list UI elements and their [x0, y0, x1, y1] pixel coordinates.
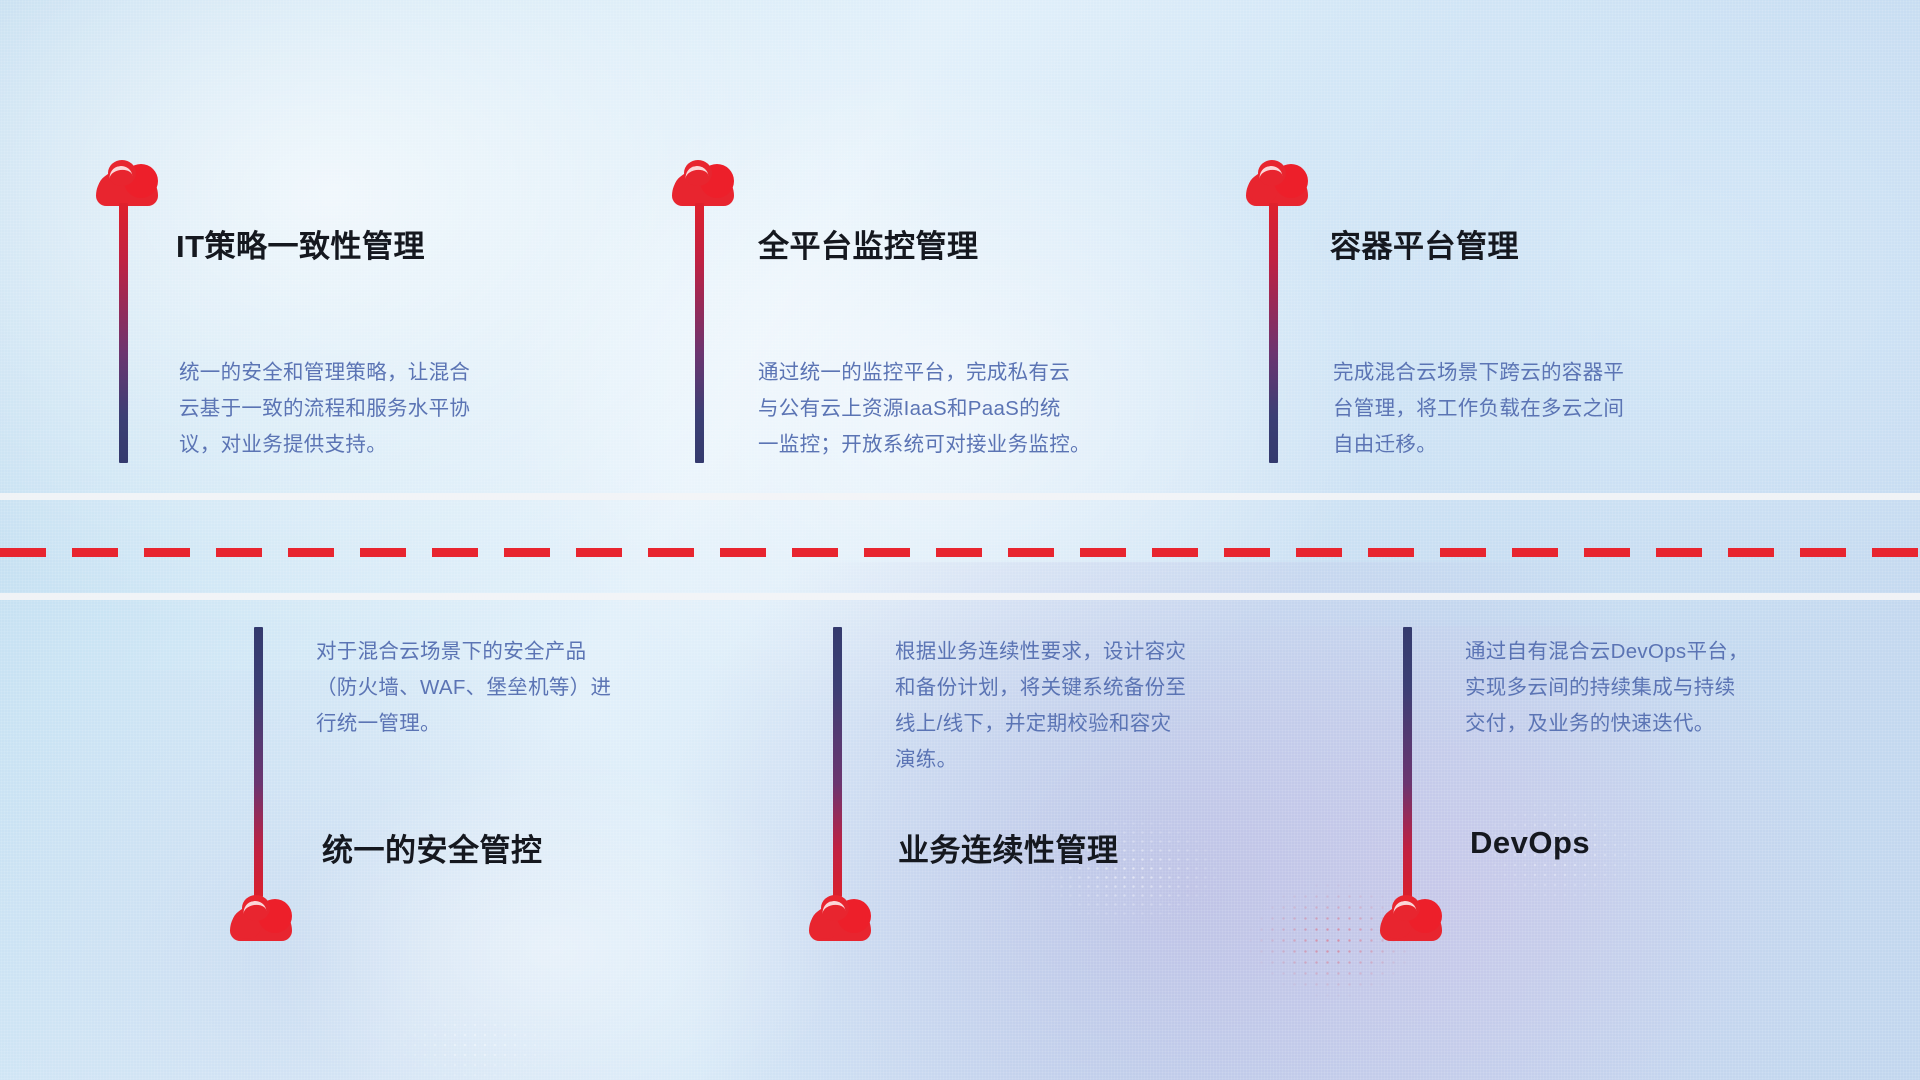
bottom-column-1-description: 对于混合云场景下的安全产品 （防火墙、WAF、堡垒机等）进 行统一管理。 [316, 634, 736, 742]
cloud-icon [230, 895, 292, 941]
divider-dashed-line [0, 548, 1920, 557]
cloud-icon [96, 160, 158, 206]
top-column-1-description: 统一的安全和管理策略，让混合 云基于一致的流程和服务水平协 议，对业务提供支持。 [179, 355, 599, 463]
cloud-icon [809, 895, 871, 941]
top-column-2-title: 全平台监控管理 [758, 221, 979, 266]
connector-bar [1403, 627, 1412, 897]
connector-bar [254, 627, 263, 897]
cloud-icon [1246, 160, 1308, 206]
infographic-canvas: IT策略一致性管理 统一的安全和管理策略，让混合 云基于一致的流程和服务水平协 … [0, 0, 1920, 1080]
divider-rule-top [0, 493, 1920, 500]
divider-rule-bottom [0, 593, 1920, 600]
bottom-column-3-title: DevOps [1470, 825, 1590, 861]
top-column-3-description: 完成混合云场景下跨云的容器平 台管理，将工作负载在多云之间 自由迁移。 [1333, 355, 1753, 463]
particle-cluster-bottom-left [380, 1000, 570, 1080]
top-column-1-title: IT策略一致性管理 [176, 221, 425, 266]
cloud-icon [1380, 895, 1442, 941]
connector-bar [695, 203, 704, 463]
connector-bar [119, 203, 128, 463]
bottom-column-3-description: 通过自有混合云DevOps平台， 实现多云间的持续集成与持续 交付，及业务的快速… [1465, 634, 1890, 742]
bottom-column-1-title: 统一的安全管控 [322, 825, 543, 870]
bottom-column-2-title: 业务连续性管理 [898, 825, 1119, 870]
top-column-2-description: 通过统一的监控平台，完成私有云 与公有云上资源IaaS和PaaS的统 一监控；开… [758, 355, 1198, 463]
connector-bar [1269, 203, 1278, 463]
top-column-3-title: 容器平台管理 [1330, 221, 1519, 266]
cloud-icon [672, 160, 734, 206]
bottom-column-2-description: 根据业务连续性要求，设计容灾 和备份计划，将关键系统备份至 线上/线下，并定期校… [895, 634, 1320, 778]
connector-bar [833, 627, 842, 897]
